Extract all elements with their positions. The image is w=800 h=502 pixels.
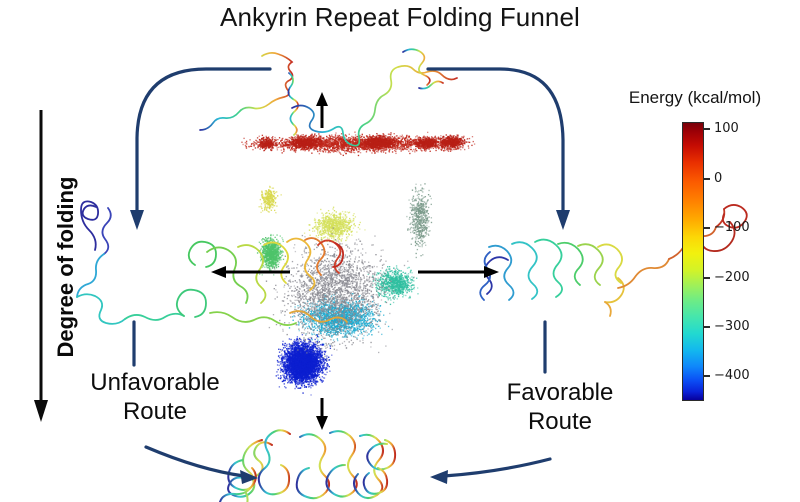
colorbar-title: Energy (kcal/mol) xyxy=(595,88,795,108)
unfavorable-route-line2: Route xyxy=(45,397,265,426)
unfavorable-route-label: Unfavorable Route xyxy=(45,368,265,427)
colorbar-gradient xyxy=(682,122,704,401)
favorable-route-line1: Favorable xyxy=(455,378,665,407)
route-arrow-top-left xyxy=(137,69,270,216)
favorable-route-line2: Route xyxy=(455,407,665,436)
route-arrows xyxy=(0,0,800,502)
route-arrow-bottom-left xyxy=(146,447,244,476)
route-arrow-bottom-right xyxy=(444,459,550,476)
route-arrow-top-right xyxy=(428,69,563,216)
unfavorable-route-line1: Unfavorable xyxy=(45,368,265,397)
figure-canvas: Ankyrin Repeat Folding Funnel Degree of … xyxy=(0,0,800,502)
favorable-route-label: Favorable Route xyxy=(455,378,665,437)
